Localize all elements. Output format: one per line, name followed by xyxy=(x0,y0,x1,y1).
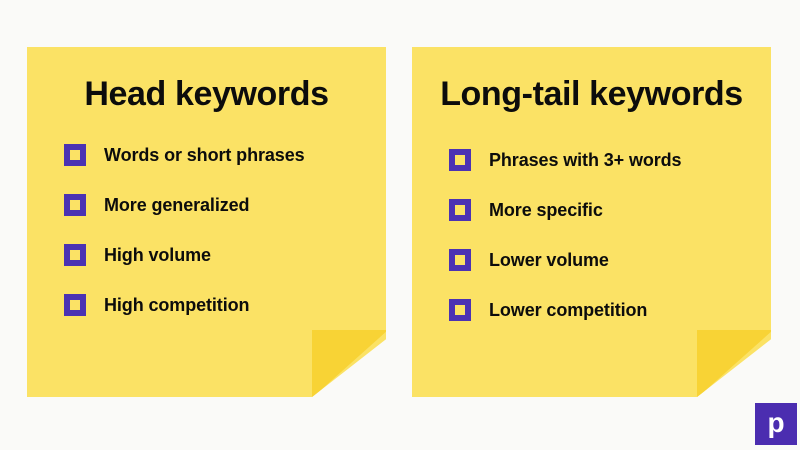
list-item: High volume xyxy=(64,244,305,266)
checkbox-icon[interactable] xyxy=(449,149,471,171)
checkbox-icon[interactable] xyxy=(64,244,86,266)
brand-logo: p xyxy=(755,403,797,445)
list-item: Words or short phrases xyxy=(64,144,305,166)
card-long-tail-keywords: Long-tail keywords Phrases with 3+ words… xyxy=(412,47,771,397)
list-item: High competition xyxy=(64,294,305,316)
list-item-label: More generalized xyxy=(104,194,249,216)
list-item: More generalized xyxy=(64,194,305,216)
list-item-label: Lower competition xyxy=(489,299,647,321)
checkbox-icon[interactable] xyxy=(449,199,471,221)
checkbox-icon[interactable] xyxy=(64,194,86,216)
list-item-label: High volume xyxy=(104,244,211,266)
card-head-keywords: Head keywords Words or short phrases Mor… xyxy=(27,47,386,397)
checkbox-icon[interactable] xyxy=(64,144,86,166)
list-item: More specific xyxy=(449,199,681,221)
list-item-label: Phrases with 3+ words xyxy=(489,149,681,171)
card-title-long-tail-keywords: Long-tail keywords xyxy=(412,77,771,111)
list-item-label: More specific xyxy=(489,199,603,221)
list-item: Phrases with 3+ words xyxy=(449,149,681,171)
list-item: Lower competition xyxy=(449,299,681,321)
card-title-head-keywords: Head keywords xyxy=(27,77,386,111)
list-item-label: High competition xyxy=(104,294,249,316)
list-item-label: Words or short phrases xyxy=(104,144,305,166)
brand-logo-letter: p xyxy=(767,409,784,437)
checkbox-icon[interactable] xyxy=(64,294,86,316)
checklist-head-keywords: Words or short phrases More generalized … xyxy=(64,144,305,316)
checkbox-icon[interactable] xyxy=(449,249,471,271)
list-item: Lower volume xyxy=(449,249,681,271)
comparison-graphic: Head keywords Words or short phrases Mor… xyxy=(0,0,800,450)
checklist-long-tail-keywords: Phrases with 3+ words More specific Lowe… xyxy=(449,149,681,321)
checkbox-icon[interactable] xyxy=(449,299,471,321)
list-item-label: Lower volume xyxy=(489,249,609,271)
